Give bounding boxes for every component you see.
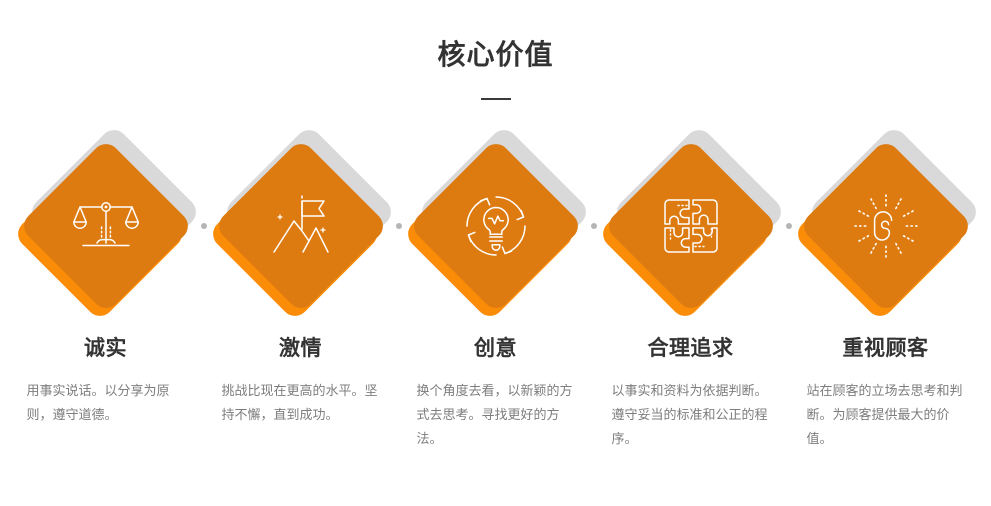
value-item-rational-pursuit[interactable]: 合理追求 以事实和资料为依据判断。遵守妥当的标准和公正的程序。 (593, 138, 788, 451)
value-title: 激情 (279, 336, 322, 361)
diamond-badge[interactable] (408, 138, 584, 314)
mountain-flag-icon (239, 164, 363, 288)
diamond-badge[interactable] (798, 138, 974, 314)
value-item-creativity[interactable]: 创意 换个角度去看，以新颖的方式去思考。寻找更好的方法。 (398, 138, 593, 451)
ear-listening-icon (824, 164, 948, 288)
title-divider (481, 98, 511, 100)
diamond-badge[interactable] (213, 138, 389, 314)
lightbulb-refresh-icon (434, 164, 558, 288)
values-list: 诚实 用事实说话。以分享为原则，遵守道德。 (0, 138, 991, 451)
diamond-badge[interactable] (603, 138, 779, 314)
value-description: 站在顾客的立场去思考和判断。为顾客提供最大的价值。 (807, 379, 965, 451)
value-description: 换个角度去看，以新颖的方式去思考。寻找更好的方法。 (417, 379, 575, 451)
value-description: 以事实和资料为依据判断。遵守妥当的标准和公正的程序。 (612, 379, 770, 451)
value-title: 创意 (474, 336, 517, 361)
diamond-badge[interactable] (18, 138, 194, 314)
value-description: 用事实说话。以分享为原则，遵守道德。 (27, 379, 185, 427)
page-title: 核心价值 (0, 38, 991, 72)
value-title: 重视顾客 (843, 336, 929, 361)
value-description: 挑战比现在更高的水平。坚持不懈，直到成功。 (222, 379, 380, 427)
core-values-section: 核心价值 (0, 0, 991, 506)
value-title: 合理追求 (648, 336, 734, 361)
value-item-honesty[interactable]: 诚实 用事实说话。以分享为原则，遵守道德。 (8, 138, 203, 427)
puzzle-pieces-icon (629, 164, 753, 288)
value-item-customer-focus[interactable]: 重视顾客 站在顾客的立场去思考和判断。为顾客提供最大的价值。 (788, 138, 983, 451)
section-header: 核心价值 (0, 38, 991, 100)
value-item-passion[interactable]: 激情 挑战比现在更高的水平。坚持不懈，直到成功。 (203, 138, 398, 427)
value-title: 诚实 (84, 336, 127, 361)
balance-scale-icon (44, 164, 168, 288)
